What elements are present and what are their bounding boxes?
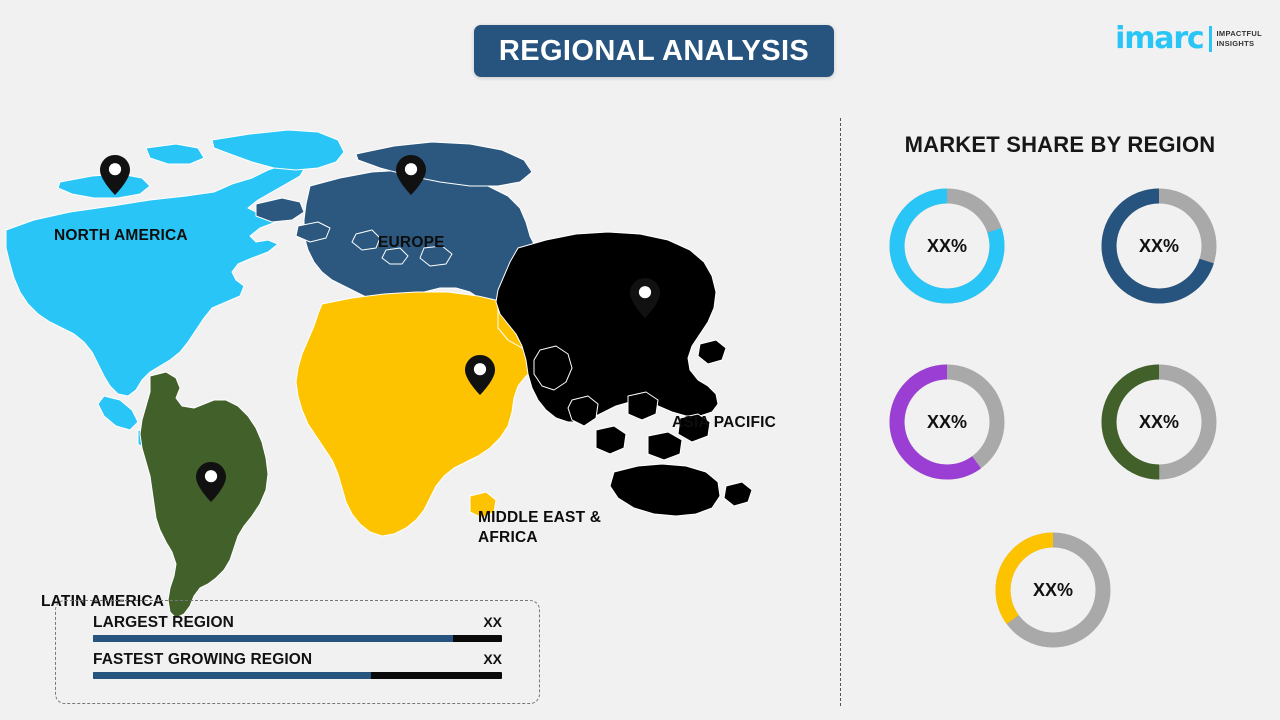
legend-value-fastest-growing-region: XX [483,651,502,667]
map-label-north-america: NORTH AMERICA [54,226,188,246]
legend-progress-fill-fastest-growing-region [93,672,371,679]
imarc-logo: imarc IMPACTFUL INSIGHTS [1115,24,1262,54]
legend-value-largest-region: XX [483,614,502,630]
legend-row-fastest-growing-region: FASTEST GROWING REGION XX [93,651,502,679]
map-pin-middle-east-africa[interactable] [465,355,495,400]
map-label-asia-pacific: ASIA PACIFIC [672,413,776,433]
donut-percent-label-0: XX% [883,182,1011,310]
map-label-europe: EUROPE [378,233,445,253]
donut-percent-label-3: XX% [1095,358,1223,486]
region-legend-box: LARGEST REGION XX FASTEST GROWING REGION… [55,600,540,704]
logo-wordmark: imarc [1115,24,1203,54]
map-pin-latin-america[interactable] [196,462,226,507]
legend-label-largest-region: LARGEST REGION [93,614,234,632]
legend-label-fastest-growing-region: FASTEST GROWING REGION [93,651,312,669]
page-title-banner: REGIONAL ANALYSIS [474,25,834,77]
donut-percent-label-2: XX% [883,358,1011,486]
section-divider [840,118,841,706]
map-region-asia-pacific[interactable] [496,232,752,516]
logo-divider-bar [1209,26,1212,52]
donut-chart-grid: XX%XX%XX%XX%XX% [855,182,1270,682]
map-label-middle-east-africa: MIDDLE EAST & AFRICA [478,508,601,548]
charts-panel-title: MARKET SHARE BY REGION [840,132,1280,158]
donut-chart-0[interactable]: XX% [883,182,1011,310]
donut-chart-2[interactable]: XX% [883,358,1011,486]
world-map-panel: NORTH AMERICA EUROPE ASIA PACIFIC MIDDLE… [0,100,830,620]
legend-row-largest-region: LARGEST REGION XX [93,614,502,642]
logo-tagline: IMPACTFUL INSIGHTS [1217,29,1262,49]
donut-chart-4[interactable]: XX% [989,526,1117,654]
map-pin-asia-pacific[interactable] [630,278,660,323]
legend-progress-track-fastest-growing-region [93,672,502,679]
legend-progress-track-largest-region [93,635,502,642]
donut-percent-label-1: XX% [1095,182,1223,310]
legend-progress-fill-largest-region [93,635,453,642]
map-pin-europe[interactable] [396,155,426,200]
logo-tagline-line2: INSIGHTS [1217,39,1255,48]
page-title: REGIONAL ANALYSIS [499,35,809,68]
donut-percent-label-4: XX% [989,526,1117,654]
map-pin-north-america[interactable] [100,155,130,200]
logo-tagline-line1: IMPACTFUL [1217,29,1262,38]
donut-chart-3[interactable]: XX% [1095,358,1223,486]
donut-chart-1[interactable]: XX% [1095,182,1223,310]
